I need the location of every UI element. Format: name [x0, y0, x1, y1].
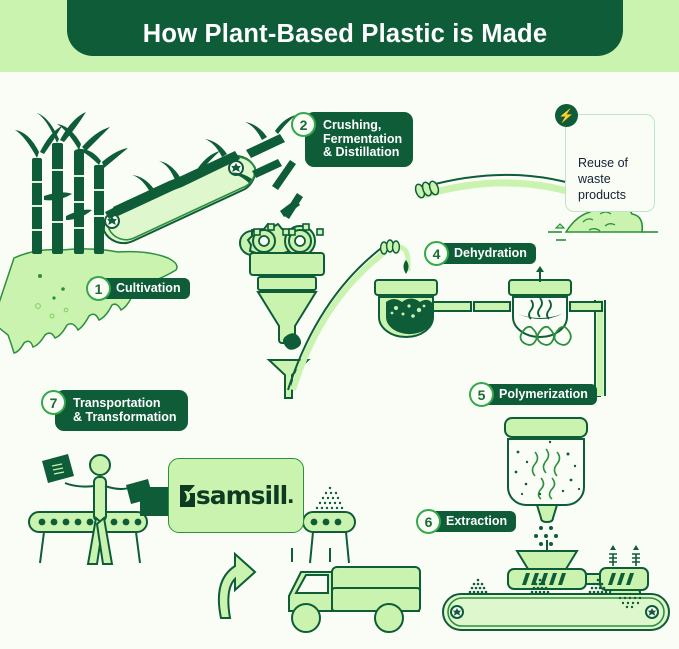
lightning-bolt-icon: ⚡: [555, 104, 578, 127]
hopper-funnel: [258, 277, 316, 343]
step-label-6: Extraction: [430, 511, 516, 533]
step-pill-7[interactable]: 7 Transportation & Transformation: [41, 390, 188, 431]
samsill-logo-panel: samsill .: [168, 458, 304, 533]
fermentation-tank: [375, 280, 471, 337]
step-pill-4[interactable]: 4 Dehydration: [424, 241, 536, 266]
logo-wrap: samsill .: [178, 481, 294, 510]
process-illustration: .dk{fill:#0E5C38;} .lg{fill:#C9F3AE;} .p…: [0, 0, 679, 649]
samsill-mark-icon: [178, 483, 198, 509]
step-label-1: Cultivation: [100, 278, 190, 300]
step-number-7: 7: [41, 390, 66, 415]
step-number-6: 6: [416, 509, 441, 534]
step-label-4: Dehydration: [438, 243, 536, 265]
step-pill-1[interactable]: 1 Cultivation: [86, 276, 190, 301]
step-number-5: 5: [469, 382, 494, 407]
step-label-2: Crushing, Fermentation & Distillation: [305, 112, 413, 167]
reuse-note-box[interactable]: ⚡ Reuse of waste products: [565, 114, 655, 212]
dehydration-tank: [474, 266, 602, 337]
step-label-5: Polymerization: [483, 384, 597, 406]
extruder-machine: [508, 540, 648, 598]
crusher-gears: [240, 193, 324, 275]
step-pill-6[interactable]: 6 Extraction: [416, 509, 516, 534]
worker-figure: [65, 455, 133, 564]
step-number-4: 4: [424, 241, 449, 266]
step-pill-5[interactable]: 5 Polymerization: [469, 382, 597, 407]
reuse-note-text: Reuse of waste products: [578, 156, 628, 202]
delivery-truck: [289, 548, 420, 632]
recycle-arrow: [219, 554, 255, 618]
step-label-7: Transportation & Transformation: [55, 390, 188, 431]
infographic-canvas: How Plant-Based Plastic is Made .dk{fill…: [0, 0, 679, 649]
step-pill-2[interactable]: 2 Crushing, Fermentation & Distillation: [291, 112, 413, 167]
step-number-1: 1: [86, 276, 111, 301]
samsill-trademark-dot: .: [287, 481, 294, 510]
samsill-wordmark: samsill: [196, 481, 287, 510]
step-number-2: 2: [291, 112, 316, 137]
polymerization-vessel: [505, 418, 587, 522]
